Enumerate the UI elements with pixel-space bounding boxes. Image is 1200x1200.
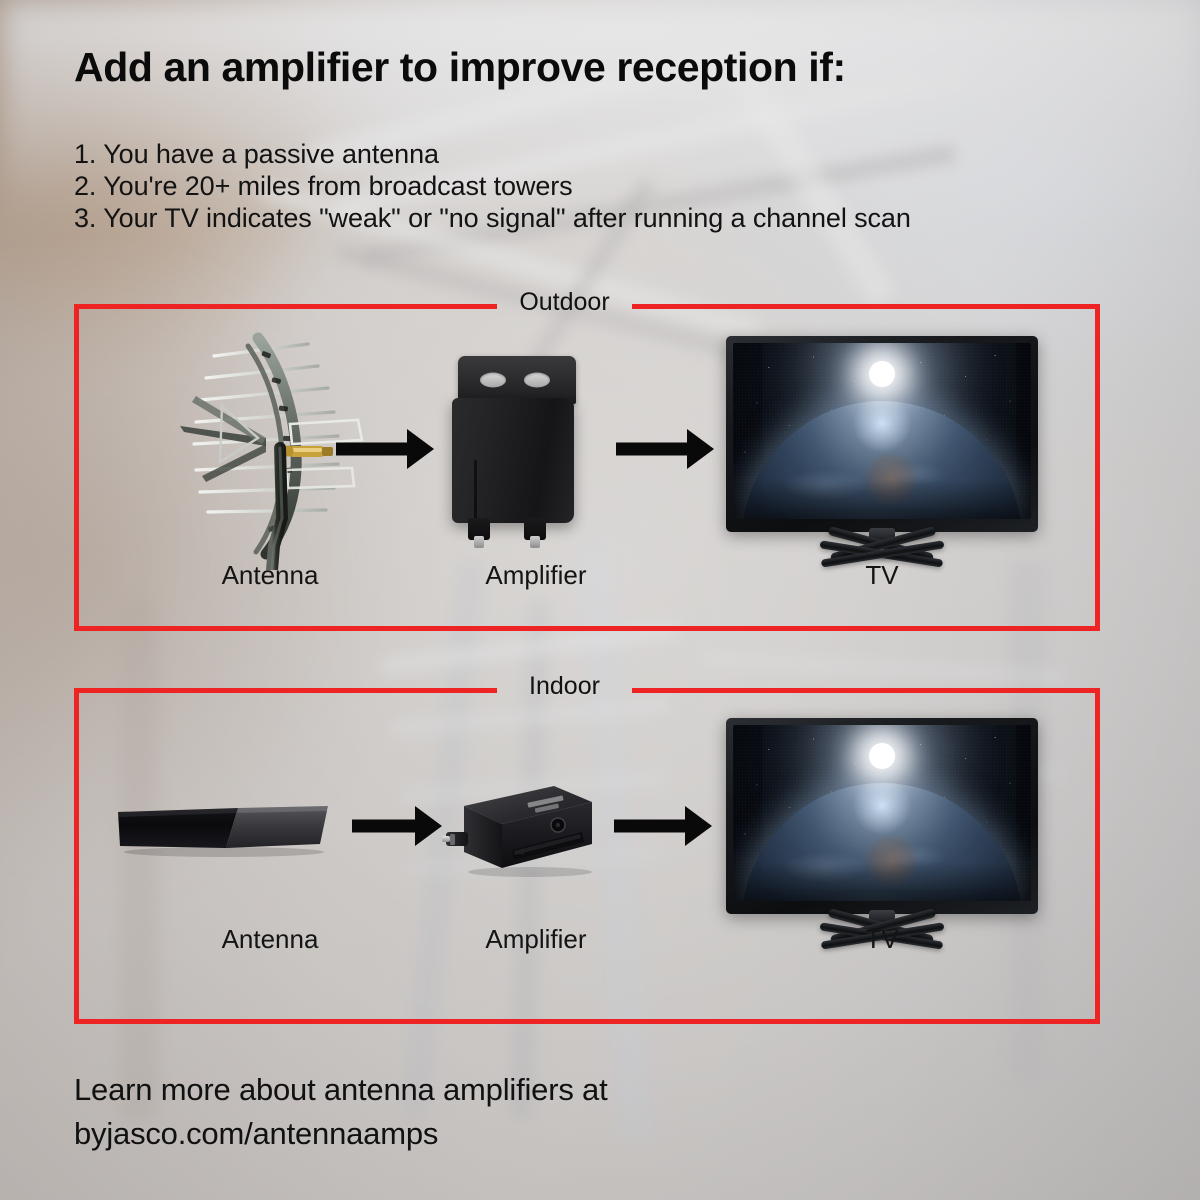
list-item: 2. You're 20+ miles from broadcast tower… [74, 170, 911, 202]
arrow-right-icon [616, 429, 714, 469]
outdoor-frame-left [74, 304, 79, 631]
indoor-section-label: Indoor [497, 672, 632, 701]
television-icon [726, 718, 1038, 958]
outdoor-frame-bottom [74, 626, 1100, 631]
outdoor-section-label: Outdoor [497, 288, 632, 317]
coax-connector-tip [474, 536, 484, 548]
list-item: 3. Your TV indicates "weak" or "no signa… [74, 202, 911, 234]
tv-screen [733, 725, 1031, 901]
outdoor-frame-top-left [74, 304, 497, 309]
coax-connector [468, 518, 490, 540]
amplifier-coax-connector [442, 832, 468, 846]
amplifier-screw [520, 850, 525, 855]
housing-seam [474, 460, 477, 520]
television-icon [726, 336, 1038, 576]
indoor-amplifier-caption: Amplifier [456, 924, 616, 955]
page-title: Add an amplifier to improve reception if… [74, 44, 846, 91]
outdoor-frame-right [1095, 304, 1100, 631]
indoor-antenna-icon [114, 800, 334, 860]
indoor-antenna-caption: Antenna [190, 924, 350, 955]
amplifier-housing [452, 398, 574, 523]
condition-list: 1. You have a passive antenna 2. You're … [74, 138, 911, 234]
coax-connector [524, 518, 546, 540]
indoor-frame-top-right [632, 688, 1100, 693]
tv-bottom-shade [733, 862, 1031, 901]
tv-sun-glow [869, 743, 895, 769]
bracket-hole [480, 373, 506, 388]
list-item: 1. You have a passive antenna [74, 138, 911, 170]
antenna-balun-connector [283, 446, 334, 458]
arrow-right-icon [614, 806, 712, 846]
indoor-amplifier-icon [442, 780, 602, 880]
indoor-frame-top-left [74, 688, 497, 693]
footer-text: Learn more about antenna amplifiers at b… [74, 1068, 608, 1156]
indoor-amplifier-svg [442, 780, 602, 880]
bracket-hole [524, 373, 550, 388]
footer-line-1: Learn more about antenna amplifiers at [74, 1068, 608, 1112]
indoor-tv-caption: TV [802, 924, 962, 955]
indoor-frame-bottom [74, 1019, 1100, 1024]
indoor-antenna-svg [114, 800, 334, 860]
outdoor-amplifier-caption: Amplifier [456, 560, 616, 591]
footer-line-2: byjasco.com/antennaamps [74, 1112, 608, 1156]
tv-sun-glow [869, 361, 895, 387]
indoor-section: Indoor [74, 688, 1100, 1024]
indoor-frame-left [74, 688, 79, 1024]
infographic-canvas: Add an amplifier to improve reception if… [0, 0, 1200, 1200]
tv-bezel [726, 718, 1038, 914]
coax-connector-tip [530, 536, 540, 548]
outdoor-amplifier-icon [446, 356, 586, 556]
tv-bezel [726, 336, 1038, 532]
outdoor-antenna-caption: Antenna [190, 560, 350, 591]
outdoor-frame-top-right [632, 304, 1100, 309]
tv-bottom-shade [733, 480, 1031, 519]
tv-screen [733, 343, 1031, 519]
amplifier-mount-bracket [458, 356, 576, 404]
arrow-right-icon [352, 806, 442, 846]
arrow-right-icon [336, 429, 434, 469]
outdoor-tv-caption: TV [802, 560, 962, 591]
indoor-frame-right [1095, 688, 1100, 1024]
outdoor-section: Outdoor [74, 304, 1100, 631]
